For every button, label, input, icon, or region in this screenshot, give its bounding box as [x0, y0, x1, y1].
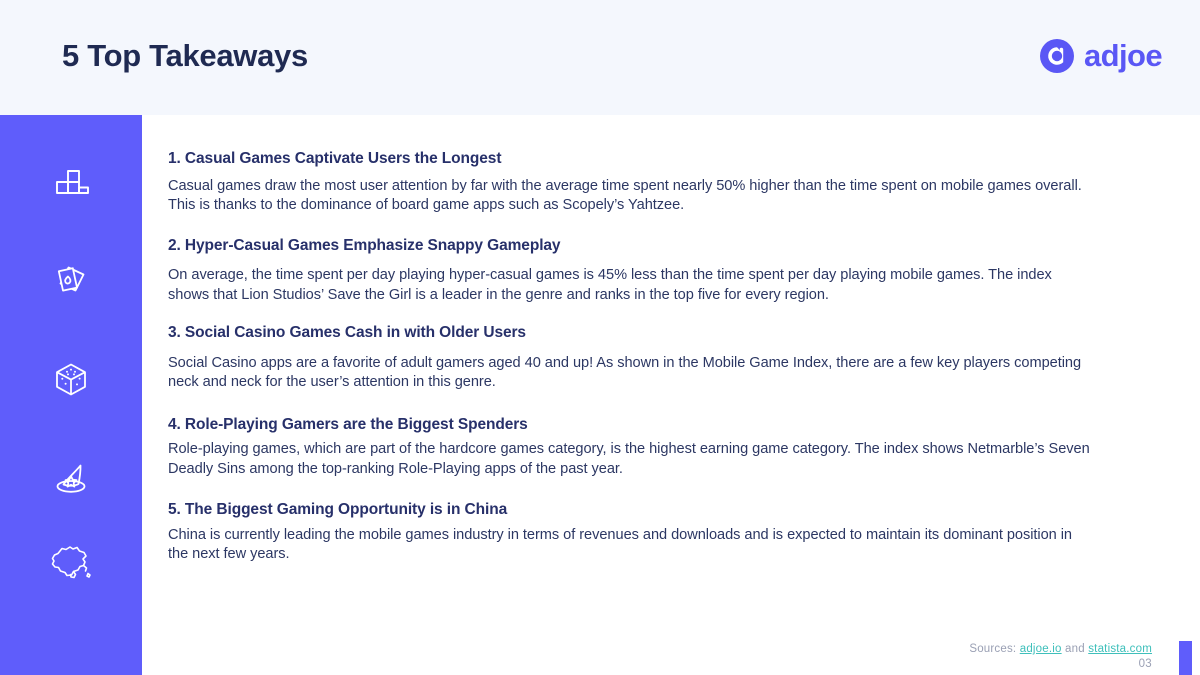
source-link-statista[interactable]: statista.com: [1088, 643, 1152, 655]
corner-accent-bar: [1179, 641, 1192, 675]
china-map-icon: [45, 540, 97, 586]
sidebar-item-china[interactable]: [0, 531, 142, 595]
sidebar-item-social-casino-games[interactable]: [0, 347, 142, 411]
adjoe-wordmark: adjoe: [1084, 38, 1162, 74]
sources-label: Sources:: [969, 643, 1016, 655]
page-number: 03: [1139, 658, 1152, 670]
icon-sidebar: [0, 115, 142, 675]
takeaway-body: China is currently leading the mobile ga…: [168, 526, 1096, 565]
sources-line: Sources: adjoe.io and statista.com: [969, 643, 1152, 655]
adjoe-circle-a-icon: [1039, 38, 1075, 74]
sidebar-item-casual-games[interactable]: [0, 151, 142, 215]
dice-cube-icon: [48, 356, 94, 402]
sidebar-item-role-playing-games[interactable]: [0, 448, 142, 512]
takeaway-body: Social Casino apps are a favorite of adu…: [168, 354, 1096, 393]
takeaway-body: Role-playing games, which are part of th…: [168, 440, 1096, 479]
playing-cards-icon: [48, 257, 94, 303]
takeaway-item: 5. The Biggest Gaming Opportunity is in …: [168, 501, 1096, 565]
slide: 5 Top Takeaways adjoe: [0, 0, 1200, 675]
slide-header: 5 Top Takeaways adjoe: [0, 0, 1200, 115]
takeaway-title: 1. Casual Games Captivate Users the Long…: [168, 150, 1096, 169]
takeaway-title: 2. Hyper-Casual Games Emphasize Snappy G…: [168, 237, 1096, 256]
takeaway-title: 4. Role-Playing Gamers are the Biggest S…: [168, 416, 1096, 435]
takeaway-body: On average, the time spent per day playi…: [168, 266, 1096, 305]
sidebar-item-hyper-casual-games[interactable]: [0, 248, 142, 312]
takeaway-title: 3. Social Casino Games Cash in with Olde…: [168, 324, 1096, 343]
tetris-blocks-icon: [48, 160, 94, 206]
takeaway-item: 4. Role-Playing Gamers are the Biggest S…: [168, 416, 1096, 480]
takeaway-item: 2. Hyper-Casual Games Emphasize Snappy G…: [168, 237, 1096, 306]
wizard-hat-icon: [47, 456, 95, 504]
page-title: 5 Top Takeaways: [62, 38, 308, 74]
adjoe-logo: adjoe: [1039, 38, 1162, 74]
takeaway-body: Casual games draw the most user attentio…: [168, 177, 1096, 216]
takeaway-title: 5. The Biggest Gaming Opportunity is in …: [168, 501, 1096, 520]
sources-conjunction: and: [1065, 643, 1085, 655]
source-link-adjoe[interactable]: adjoe.io: [1020, 643, 1062, 655]
takeaway-item: 3. Social Casino Games Cash in with Olde…: [168, 324, 1096, 393]
takeaway-item: 1. Casual Games Captivate Users the Long…: [168, 150, 1096, 216]
takeaways-list: 1. Casual Games Captivate Users the Long…: [168, 150, 1096, 582]
